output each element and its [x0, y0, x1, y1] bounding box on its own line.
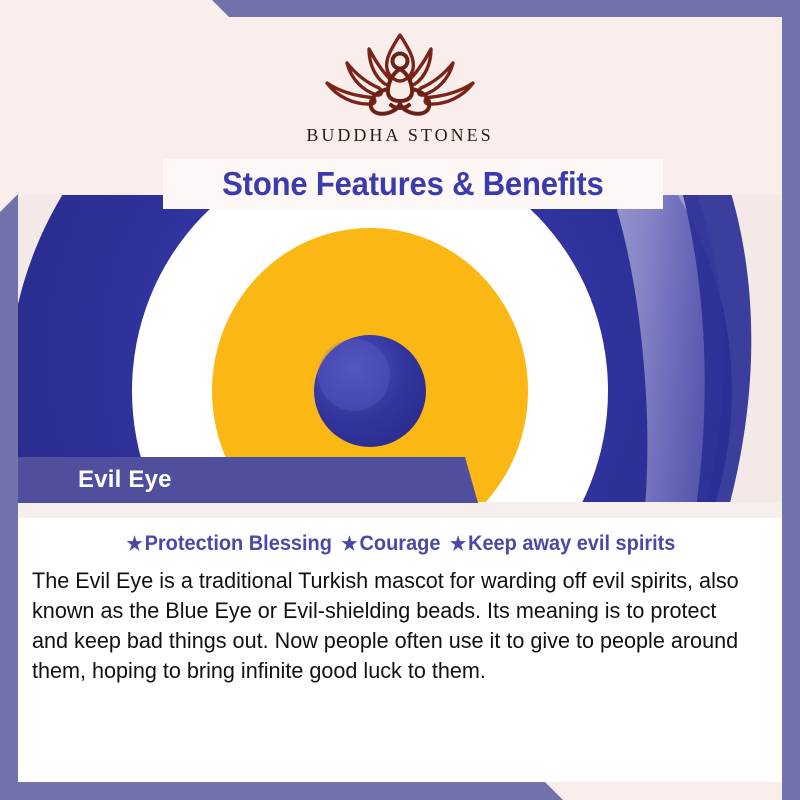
evil-eye-bead-illustration — [18, 195, 782, 502]
lotus-meditation-icon — [305, 25, 495, 123]
star-icon-2: ★ — [341, 534, 357, 555]
hero-image — [18, 195, 782, 502]
page-title: Stone Features & Benefits — [222, 165, 603, 203]
benefit-item-1: Protection Blessing — [145, 532, 332, 555]
card-top-edge — [18, 502, 782, 518]
description-text: The Evil Eye is a traditional Turkish ma… — [32, 566, 744, 686]
brand-wordmark: BUDDHA STONES — [18, 125, 782, 146]
benefits-list: ★Protection Blessing★Courage★Keep away e… — [37, 532, 763, 556]
frame-band-right — [782, 0, 800, 800]
frame-band-bottom — [0, 782, 800, 800]
frame-band-left — [0, 0, 18, 800]
description-card: ★Protection Blessing★Courage★Keep away e… — [18, 502, 782, 782]
page-title-bar: Stone Features & Benefits — [163, 159, 663, 209]
brand-logo: BUDDHA STONES — [18, 25, 782, 146]
benefit-item-2: Courage — [360, 532, 441, 555]
star-icon-3: ★ — [450, 534, 466, 555]
content-plate: BUDDHA STONES — [18, 17, 782, 782]
benefit-item-3: Keep away evil spirits — [468, 532, 675, 555]
infographic-card: BUDDHA STONES — [0, 0, 800, 800]
star-icon-1: ★ — [126, 534, 142, 555]
stone-name-ribbon: Evil Eye — [18, 457, 478, 503]
frame-band-top — [0, 0, 800, 17]
stone-name-label: Evil Eye — [78, 466, 172, 494]
